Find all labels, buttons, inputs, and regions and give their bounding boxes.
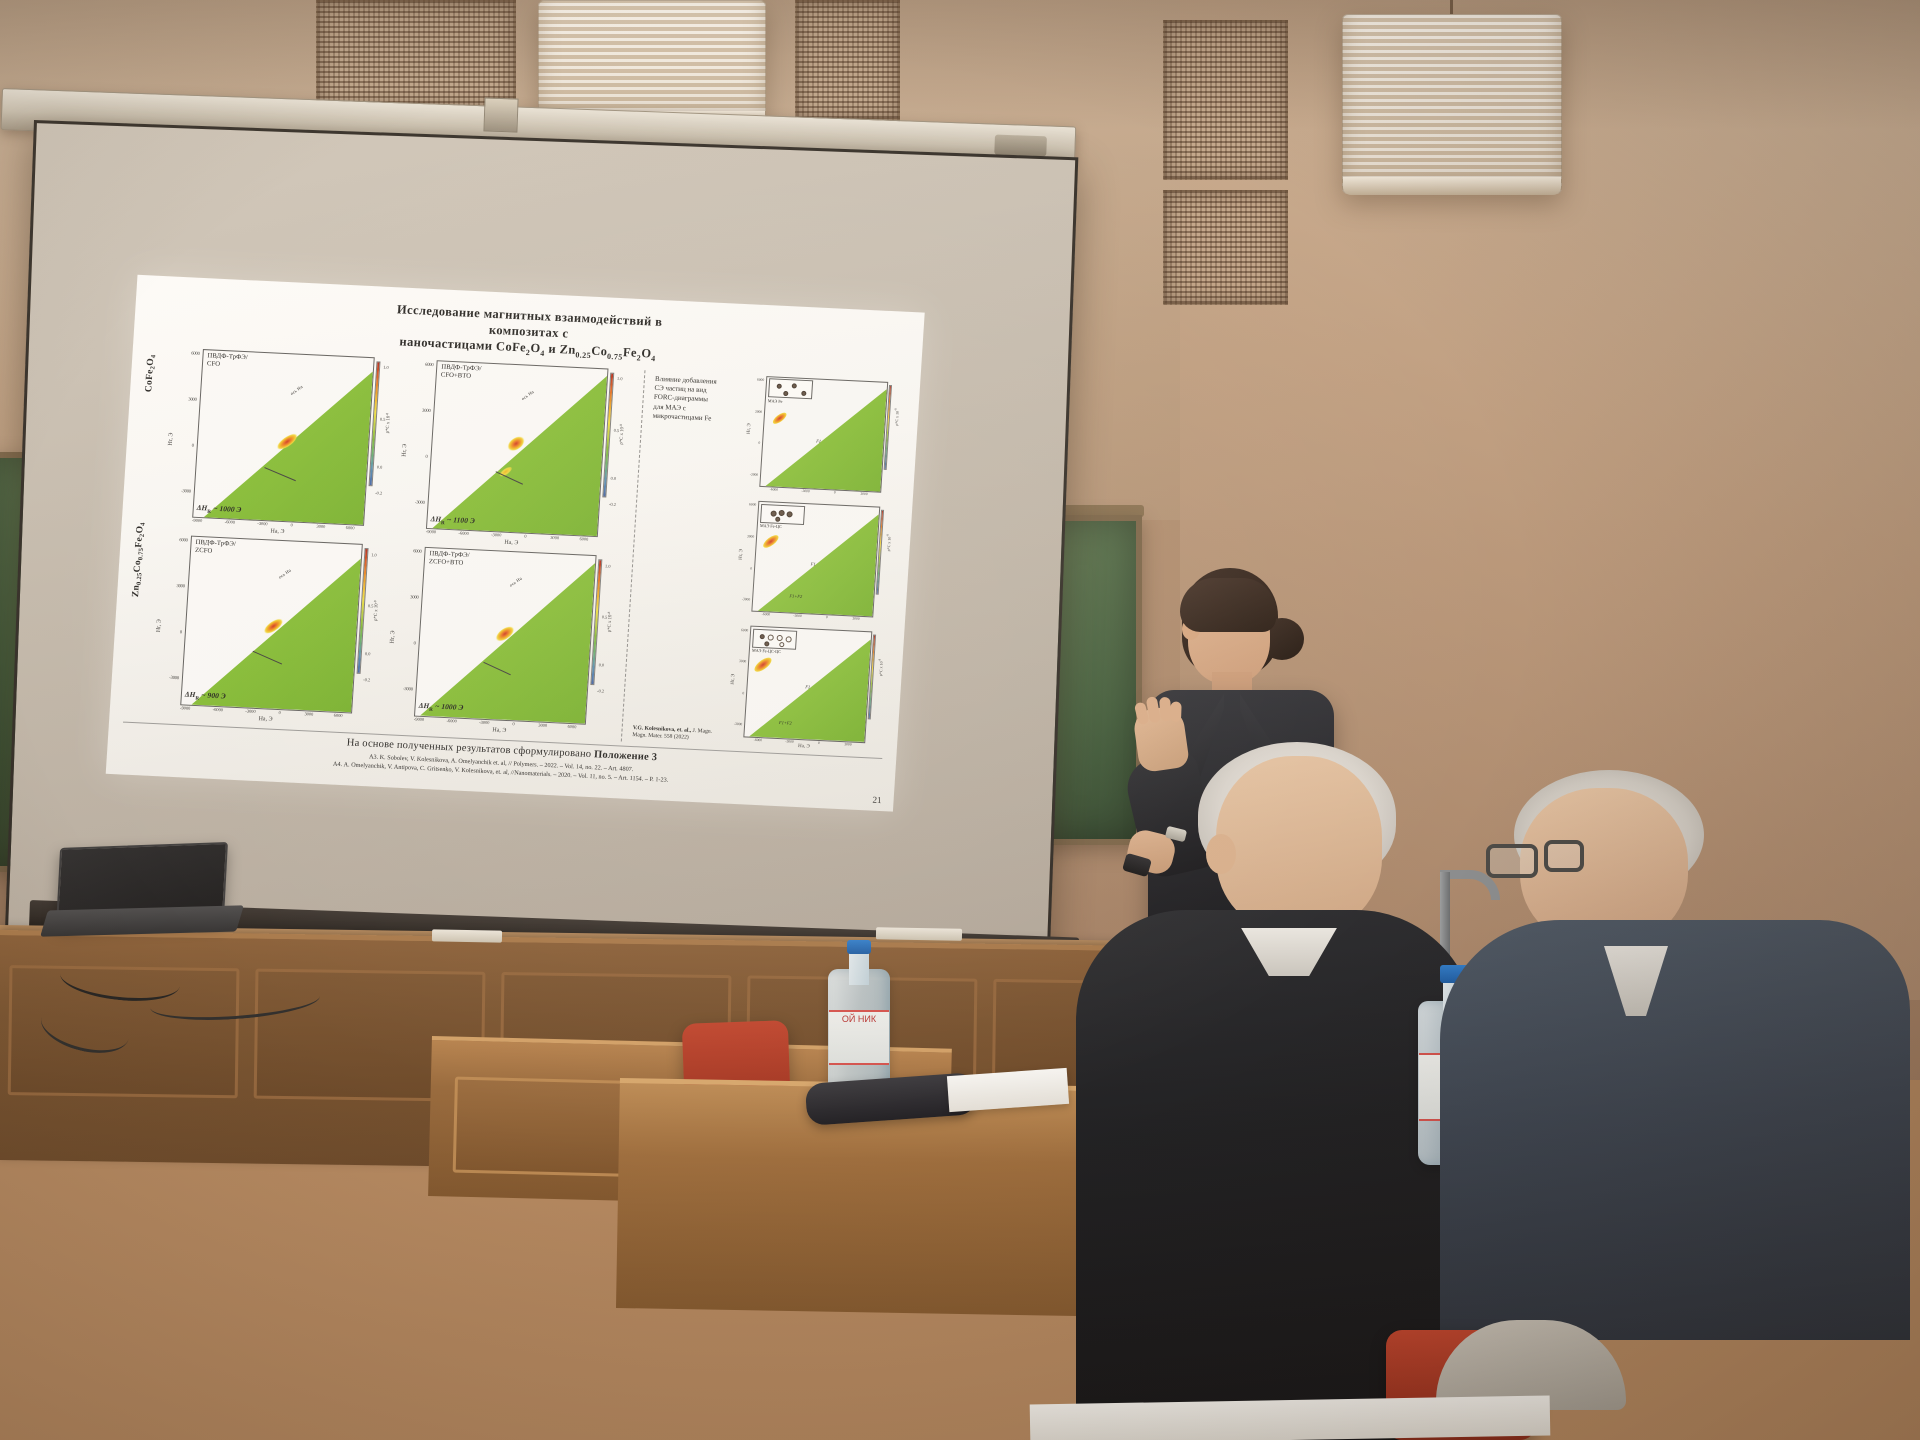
particle-icon bbox=[792, 384, 797, 389]
diag-axis-label: ось Hu bbox=[509, 576, 523, 588]
presentation-slide: Исследование магнитных взаимодействий в … bbox=[106, 275, 925, 812]
desk-object bbox=[432, 929, 502, 942]
mini-panel-mae-fe-shs: 6000 3000 0 -3000 Hr, Э bbox=[727, 625, 890, 754]
mini-caption-mae-fe-zs: МАЭ Fe-ЦС bbox=[760, 523, 782, 529]
laptop-keyboard[interactable] bbox=[40, 905, 244, 936]
particle-icon bbox=[768, 634, 774, 640]
x-axis-label: Hа, Э bbox=[492, 727, 506, 734]
forc-plot-cfo: ось Hu ПВДФ-ТрФЭ/CFO ΔHR ~ 1000 Э bbox=[192, 349, 375, 526]
delta-hr-cfo: ΔHR ~ 1000 Э bbox=[196, 503, 241, 517]
right-description: Влияние добавления СЭ частиц на вид FORC… bbox=[652, 370, 747, 425]
delta-hr-zcfo-bto: ΔHR ~ 1000 Э bbox=[418, 701, 463, 715]
colorbar-label: ρ*C x 10-8 bbox=[876, 659, 883, 676]
mini-feature-tag: F1+F2 bbox=[779, 720, 792, 726]
panel-label-zcfo-bto: ПВДФ-ТрФЭ/ZCFO+BTO bbox=[429, 550, 470, 567]
slide-page-number: 21 bbox=[872, 795, 882, 805]
mini-feature-tag: F1 bbox=[816, 438, 821, 443]
particle-inset bbox=[768, 378, 813, 399]
mini-panel-mae-fe-zs: 6000 3000 0 -3000 Hr, Э bbox=[735, 500, 898, 629]
wall-vent-icon bbox=[1163, 190, 1288, 305]
particle-icon bbox=[779, 642, 784, 647]
particle-icon bbox=[787, 511, 793, 517]
bottle-neck bbox=[849, 950, 869, 985]
forc-panel-cfo: 6000 3000 0 -3000 Hr, Э ось Hu bbox=[161, 347, 401, 542]
particle-icon bbox=[775, 516, 780, 521]
mini-y-label: Hr, Э bbox=[731, 674, 737, 685]
mini-forc-charts: 6000 3000 0 -3000 Hr, Э bbox=[727, 375, 906, 754]
particle-icon bbox=[801, 391, 806, 396]
mini-forc-peak bbox=[771, 411, 788, 426]
forc-plot-cfo-bto: ось Hu ПВДФ-ТрФЭ/CFO+BTO ΔHR ~ 1100 Э bbox=[426, 360, 609, 537]
wall-vent-icon bbox=[795, 0, 900, 120]
audience-body bbox=[1440, 920, 1910, 1340]
panel-label-cfo-bto: ПВДФ-ТрФЭ/CFO+BTO bbox=[441, 363, 482, 380]
right-reference: V.G. Kolesnikova, et. al., J. Magn. Magn… bbox=[632, 725, 725, 744]
colorbar-label: ρ*C x 10-8 bbox=[618, 424, 626, 445]
particle-icon bbox=[783, 391, 788, 396]
mini-feature-tag: F1 bbox=[811, 561, 816, 566]
colorbar-label: ρ*C x 10-8 bbox=[884, 534, 891, 551]
mini-plot-mae-fe: МАЭ Fe F1 bbox=[759, 376, 888, 493]
mini-y-label: Hr, Э bbox=[747, 423, 753, 434]
screen-roller-knob[interactable] bbox=[994, 135, 1047, 157]
particle-icon bbox=[764, 641, 769, 646]
eyeglasses-icon bbox=[1544, 840, 1584, 872]
row-label-znco-fe2o4: Zn0.25Co0.75Fe2O4 bbox=[131, 522, 147, 597]
audience-head bbox=[1216, 756, 1382, 932]
mini-caption-mae-fe-shs: МАЭ Fe-ЦС-ЦС bbox=[752, 648, 781, 654]
desk-object bbox=[876, 927, 962, 940]
colorbar-label: ρ*C x 10-8 bbox=[892, 409, 899, 426]
particle-icon bbox=[777, 384, 782, 389]
particle-icon bbox=[779, 509, 785, 515]
lecture-hall-scene: Исследование магнитных взаимодействий в … bbox=[0, 0, 1920, 1440]
forc-grid: 6000 3000 0 -3000 Hr, Э ось Hu bbox=[149, 347, 634, 740]
delta-hr-zcfo: ΔHR ~ 900 Э bbox=[184, 690, 226, 703]
diag-axis-label: ось Hu bbox=[290, 384, 304, 396]
particle-inset bbox=[760, 504, 805, 525]
bottle-cap[interactable] bbox=[847, 940, 872, 954]
mini-caption-mae-fe: МАЭ Fe bbox=[768, 398, 783, 404]
mini-plot-mae-fe-zs: МАЭ Fe-ЦС F1 F1+F2 bbox=[751, 501, 880, 618]
mini-x-label: Hа, Э bbox=[798, 744, 810, 750]
wall-vent-icon bbox=[1163, 20, 1288, 180]
screen-bracket bbox=[483, 97, 518, 132]
x-axis-label: Hа, Э bbox=[504, 540, 518, 547]
mini-forc-peak bbox=[752, 655, 773, 674]
panel-label-cfo: ПВДФ-ТрФЭ/CFO bbox=[207, 352, 248, 369]
forc-panel-zcfo-bto: 6000 3000 0 -3000 Hr, Э ось Hu bbox=[383, 546, 623, 741]
eyeglasses-icon bbox=[1486, 844, 1538, 878]
forc-panel-zcfo: 6000 3000 0 -3000 Hr, Э ось Hu bbox=[149, 534, 389, 729]
ceiling-vent-icon bbox=[316, 0, 516, 110]
title-line-2: композитах с bbox=[489, 323, 569, 341]
mini-plot-mae-fe-shs: МАЭ Fe-ЦС-ЦС F1 F1+F2 bbox=[743, 626, 872, 743]
pendant-lamp bbox=[538, 0, 766, 126]
panel-label-zcfo: ПВДФ-ТрФЭ/ZCFO bbox=[195, 539, 236, 556]
audience-member-right bbox=[1440, 770, 1920, 1330]
mini-forc-peak bbox=[761, 533, 780, 550]
presenter-hair-front bbox=[1180, 578, 1276, 632]
diag-axis-label: ось Hu bbox=[278, 568, 292, 580]
mini-feature-tag: F1+F2 bbox=[789, 593, 802, 599]
particle-icon bbox=[777, 635, 783, 641]
x-axis-label: Hа, Э bbox=[258, 716, 272, 723]
y-axis-label: Hr, Э bbox=[156, 619, 163, 632]
bottle-label: ОЙ НИК bbox=[829, 1010, 889, 1064]
particle-icon bbox=[771, 510, 777, 516]
colorbar-label: ρ*C x 10-8 bbox=[384, 413, 392, 434]
mini-y-label: Hr, Э bbox=[739, 549, 745, 560]
forc-grid-block: CoFe2O4 Zn0.25Co0.75Fe2O4 6000 3000 bbox=[123, 346, 634, 741]
water-bottle[interactable]: ОЙ НИК bbox=[828, 940, 890, 1100]
finger bbox=[1170, 701, 1182, 721]
right-column: Влияние добавления СЭ частиц на вид FORC… bbox=[632, 370, 906, 753]
diag-axis-label: ось Hu bbox=[521, 389, 535, 401]
mini-feature-tag: F1 bbox=[805, 684, 810, 689]
particle-inset bbox=[752, 629, 797, 650]
y-axis-label: Hr, Э bbox=[390, 630, 397, 643]
x-axis-label: Hа, Э bbox=[270, 529, 284, 536]
slide-body: CoFe2O4 Zn0.25Co0.75Fe2O4 6000 3000 bbox=[123, 346, 906, 754]
audience-ear bbox=[1206, 834, 1236, 874]
y-axis-label: Hr, Э bbox=[402, 443, 409, 456]
pendant-lamp bbox=[1342, 14, 1562, 194]
row-label-cofe2o4: CoFe2O4 bbox=[144, 354, 157, 392]
particle-icon bbox=[786, 636, 792, 642]
forc-plot-zcfo-bto: ось Hu ПВДФ-ТрФЭ/ZCFO+BTO ΔHR ~ 1000 Э bbox=[414, 547, 597, 724]
delta-hr-cfo-bto: ΔHR ~ 1100 Э bbox=[430, 514, 475, 528]
projection-screen: Исследование магнитных взаимодействий в … bbox=[5, 120, 1078, 967]
forc-panel-cfo-bto: 6000 3000 0 -3000 Hr, Э ось Hu bbox=[395, 359, 635, 554]
colorbar-label: ρ*C x 10-8 bbox=[606, 611, 614, 632]
colorbar-label: ρ*C x 10-8 bbox=[372, 600, 380, 621]
particle-icon bbox=[760, 634, 765, 639]
forc-plot-zcfo: ось Hu ПВДФ-ТрФЭ/ZCFO ΔHR ~ 900 Э bbox=[180, 536, 363, 713]
y-axis-label: Hr, Э bbox=[168, 432, 175, 445]
mini-panel-mae-fe: 6000 3000 0 -3000 Hr, Э bbox=[743, 375, 906, 504]
